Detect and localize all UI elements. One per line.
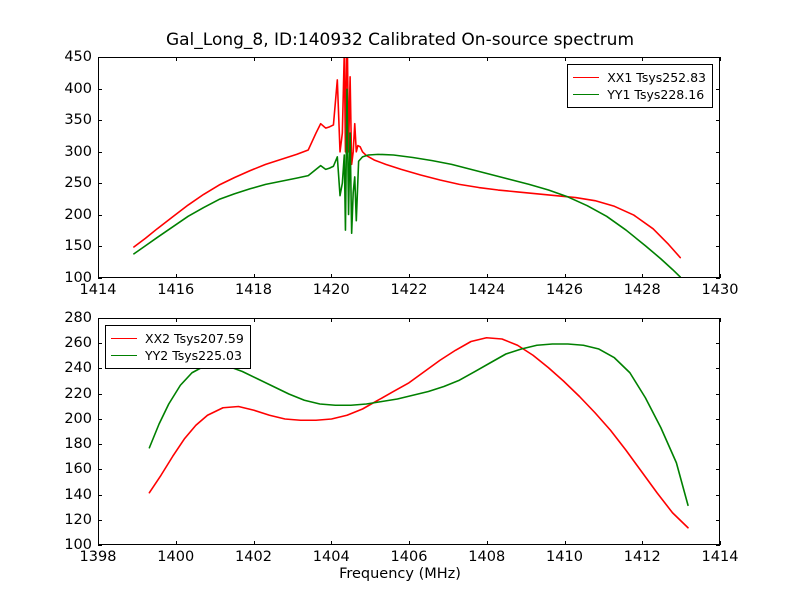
y-axis-label-top: Power in Kelvin — [0, 57, 2, 167]
x-tick-mark — [720, 318, 721, 322]
x-tick-label: 1398 — [68, 549, 128, 565]
y-tick-mark — [716, 419, 720, 420]
y-tick-mark — [716, 183, 720, 184]
legend-entry: YY1 Tsys228.16 — [573, 86, 706, 103]
x-tick-mark — [409, 274, 410, 278]
y-tick-mark — [716, 368, 720, 369]
x-tick-mark — [331, 274, 332, 278]
y-tick-mark — [98, 120, 102, 121]
legend-label: YY1 Tsys228.16 — [607, 87, 704, 102]
y-tick-label: 120 — [40, 512, 92, 528]
x-tick-mark — [565, 57, 566, 61]
x-tick-label: 1404 — [301, 549, 361, 565]
y-tick-mark — [98, 495, 102, 496]
x-tick-label: 1420 — [301, 282, 361, 298]
legend-label: XX1 Tsys252.83 — [607, 70, 706, 85]
y-tick-mark — [716, 89, 720, 90]
x-tick-label: 1410 — [535, 549, 595, 565]
y-tick-label: 220 — [40, 386, 92, 402]
top-plot-axes: XX1 Tsys252.83YY1 Tsys228.16 — [98, 57, 720, 278]
x-tick-label: 1400 — [146, 549, 206, 565]
x-tick-mark — [409, 57, 410, 61]
y-tick-mark — [98, 89, 102, 90]
y-tick-mark — [716, 545, 720, 546]
y-tick-mark — [716, 278, 720, 279]
y-tick-label: 140 — [40, 487, 92, 503]
y-tick-mark — [716, 520, 720, 521]
x-tick-label: 1430 — [690, 282, 750, 298]
x-tick-mark — [176, 318, 177, 322]
y-tick-mark — [716, 469, 720, 470]
x-tick-mark — [720, 541, 721, 545]
x-tick-mark — [565, 274, 566, 278]
x-tick-label: 1406 — [379, 549, 439, 565]
y-tick-mark — [98, 183, 102, 184]
y-tick-label: 150 — [40, 238, 92, 254]
legend-color-swatch — [111, 338, 137, 339]
x-tick-label: 1426 — [535, 282, 595, 298]
x-tick-mark — [409, 541, 410, 545]
x-tick-mark — [642, 318, 643, 322]
x-tick-label: 1418 — [224, 282, 284, 298]
y-tick-label: 200 — [40, 411, 92, 427]
x-tick-mark — [254, 57, 255, 61]
x-tick-mark — [331, 541, 332, 545]
series-line — [134, 89, 680, 277]
x-tick-label: 1416 — [146, 282, 206, 298]
legend-entry: XX2 Tsys207.59 — [111, 330, 244, 347]
y-tick-label: 450 — [40, 49, 92, 65]
x-axis-label-bottom: Frequency (MHz) — [0, 566, 800, 582]
legend-label: XX2 Tsys207.59 — [145, 331, 244, 346]
x-tick-mark — [254, 541, 255, 545]
legend-bottom: XX2 Tsys207.59YY2 Tsys225.03 — [105, 325, 251, 369]
y-tick-mark — [98, 545, 102, 546]
y-tick-label: 280 — [40, 310, 92, 326]
legend-top: XX1 Tsys252.83YY1 Tsys228.16 — [567, 64, 713, 108]
x-tick-label: 1428 — [612, 282, 672, 298]
y-tick-label: 300 — [40, 144, 92, 160]
y-tick-label: 250 — [40, 175, 92, 191]
x-tick-mark — [176, 274, 177, 278]
y-tick-mark — [716, 120, 720, 121]
legend-color-swatch — [573, 94, 599, 95]
figure-canvas: Gal_Long_8, ID:140932 Calibrated On-sour… — [0, 0, 800, 600]
x-tick-mark — [720, 57, 721, 61]
y-tick-mark — [98, 469, 102, 470]
y-tick-mark — [716, 394, 720, 395]
y-tick-mark — [98, 520, 102, 521]
x-tick-mark — [642, 57, 643, 61]
y-tick-label: 180 — [40, 436, 92, 452]
x-tick-mark — [98, 541, 99, 545]
x-tick-mark — [487, 318, 488, 322]
x-tick-label: 1402 — [224, 549, 284, 565]
x-tick-mark — [565, 541, 566, 545]
x-tick-mark — [487, 57, 488, 61]
x-tick-mark — [720, 274, 721, 278]
x-tick-mark — [565, 318, 566, 322]
x-tick-label: 1414 — [68, 282, 128, 298]
x-tick-mark — [331, 57, 332, 61]
y-tick-mark — [716, 152, 720, 153]
y-tick-mark — [98, 215, 102, 216]
x-tick-label: 1424 — [457, 282, 517, 298]
y-tick-label: 160 — [40, 461, 92, 477]
x-tick-mark — [98, 318, 99, 322]
x-tick-mark — [642, 541, 643, 545]
y-tick-label: 240 — [40, 360, 92, 376]
y-tick-label: 400 — [40, 81, 92, 97]
x-tick-mark — [487, 274, 488, 278]
y-tick-mark — [98, 246, 102, 247]
x-tick-mark — [409, 318, 410, 322]
legend-color-swatch — [111, 355, 137, 356]
y-tick-mark — [716, 215, 720, 216]
y-tick-label: 200 — [40, 207, 92, 223]
y-tick-label: 260 — [40, 335, 92, 351]
y-tick-label: 350 — [40, 112, 92, 128]
y-tick-mark — [98, 368, 102, 369]
y-tick-mark — [716, 343, 720, 344]
legend-label: YY2 Tsys225.03 — [145, 348, 242, 363]
x-tick-mark — [176, 541, 177, 545]
y-tick-mark — [98, 419, 102, 420]
y-tick-mark — [716, 246, 720, 247]
x-tick-mark — [254, 318, 255, 322]
x-tick-label: 1408 — [457, 549, 517, 565]
y-tick-mark — [716, 495, 720, 496]
y-tick-mark — [98, 152, 102, 153]
x-tick-mark — [487, 541, 488, 545]
x-tick-mark — [176, 57, 177, 61]
x-tick-label: 1422 — [379, 282, 439, 298]
x-tick-mark — [254, 274, 255, 278]
x-tick-label: 1412 — [612, 549, 672, 565]
y-tick-mark — [98, 394, 102, 395]
legend-entry: XX1 Tsys252.83 — [573, 69, 706, 86]
x-tick-mark — [98, 274, 99, 278]
x-tick-mark — [98, 57, 99, 61]
x-tick-label: 1414 — [690, 549, 750, 565]
bottom-plot-axes: XX2 Tsys207.59YY2 Tsys225.03 — [98, 318, 720, 545]
y-tick-mark — [98, 278, 102, 279]
figure-title: Gal_Long_8, ID:140932 Calibrated On-sour… — [0, 30, 800, 50]
y-tick-mark — [716, 444, 720, 445]
y-tick-mark — [98, 444, 102, 445]
legend-entry: YY2 Tsys225.03 — [111, 347, 244, 364]
x-tick-mark — [331, 318, 332, 322]
x-tick-mark — [642, 274, 643, 278]
legend-color-swatch — [573, 77, 599, 78]
y-tick-mark — [98, 343, 102, 344]
